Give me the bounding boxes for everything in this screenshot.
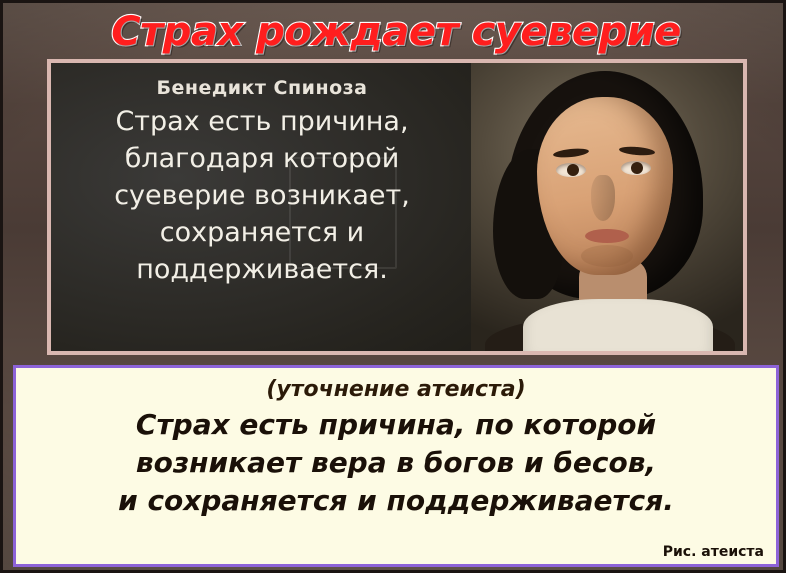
portrait-chin xyxy=(581,245,633,267)
comment-line-1: Страх есть причина, по которой xyxy=(26,406,766,444)
portrait-nose xyxy=(591,175,615,221)
quote-line-5: поддерживается. xyxy=(63,251,461,288)
comment-line-2: возникает вера в богов и бесов, xyxy=(26,444,766,482)
page-title: Страх рождает суеверие xyxy=(111,9,681,55)
portrait-collar xyxy=(523,299,713,351)
quote-text-area: Бенедикт Спиноза Страх есть причина, бла… xyxy=(51,63,471,351)
quote-card: Бенедикт Спиноза Страх есть причина, бла… xyxy=(47,59,747,355)
poster-title-wrap: Страх рождает суеверие xyxy=(3,9,786,55)
quote-line-1: Страх есть причина, xyxy=(63,103,461,140)
quote-text: Страх есть причина, благодаря которой су… xyxy=(63,103,461,288)
quote-line-4: сохраняется и xyxy=(63,214,461,251)
quote-line-3: суеверие возникает, xyxy=(63,177,461,214)
portrait-pupil-left xyxy=(567,164,579,176)
comment-body: Страх есть причина, по которой возникает… xyxy=(26,406,766,520)
portrait-mouth xyxy=(585,229,629,243)
comment-subtitle: (уточнение атеиста) xyxy=(26,376,766,404)
comment-panel: (уточнение атеиста) Страх есть причина, … xyxy=(13,365,779,567)
credit-text: Рис. атеиста xyxy=(663,544,764,560)
comment-line-3: и сохраняется и поддерживается. xyxy=(26,482,766,520)
quote-author: Бенедикт Спиноза xyxy=(63,77,461,99)
quote-line-2: благодаря которой xyxy=(63,140,461,177)
poster-canvas: Страх рождает суеверие Бенедикт Спиноза … xyxy=(0,0,786,573)
portrait-pupil-right xyxy=(631,162,643,174)
portrait-image xyxy=(471,63,743,351)
